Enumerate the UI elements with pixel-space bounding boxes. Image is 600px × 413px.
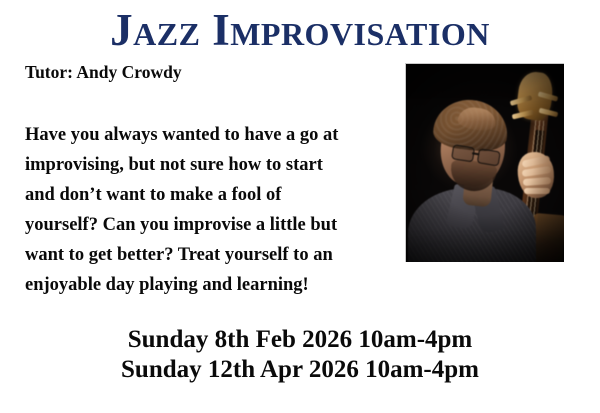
body-line: want to get better? Treat yourself to an — [25, 240, 397, 270]
date-line: Sunday 12th Apr 2026 10am-4pm — [0, 355, 600, 385]
body-line: Have you always wanted to have a go at — [25, 120, 397, 150]
page-title: Jazz Improvisation — [0, 6, 600, 54]
date-line: Sunday 8th Feb 2026 10am-4pm — [0, 325, 600, 355]
photo-softener — [406, 64, 564, 262]
body-line: and don’t want to make a fool of — [25, 180, 397, 210]
body-line: enjoyable day playing and learning! — [25, 270, 397, 300]
body-line: yourself? Can you improvise a little but — [25, 210, 397, 240]
poster-canvas: Jazz Improvisation Tutor: Andy Crowdy Ha… — [0, 0, 600, 413]
tutor-line: Tutor: Andy Crowdy — [25, 61, 182, 83]
tutor-photo — [405, 63, 564, 262]
dates-block: Sunday 8th Feb 2026 10am-4pm Sunday 12th… — [0, 325, 600, 385]
body-copy: Have you always wanted to have a go at i… — [25, 120, 397, 300]
body-line: improvising, but not sure how to start — [25, 150, 397, 180]
